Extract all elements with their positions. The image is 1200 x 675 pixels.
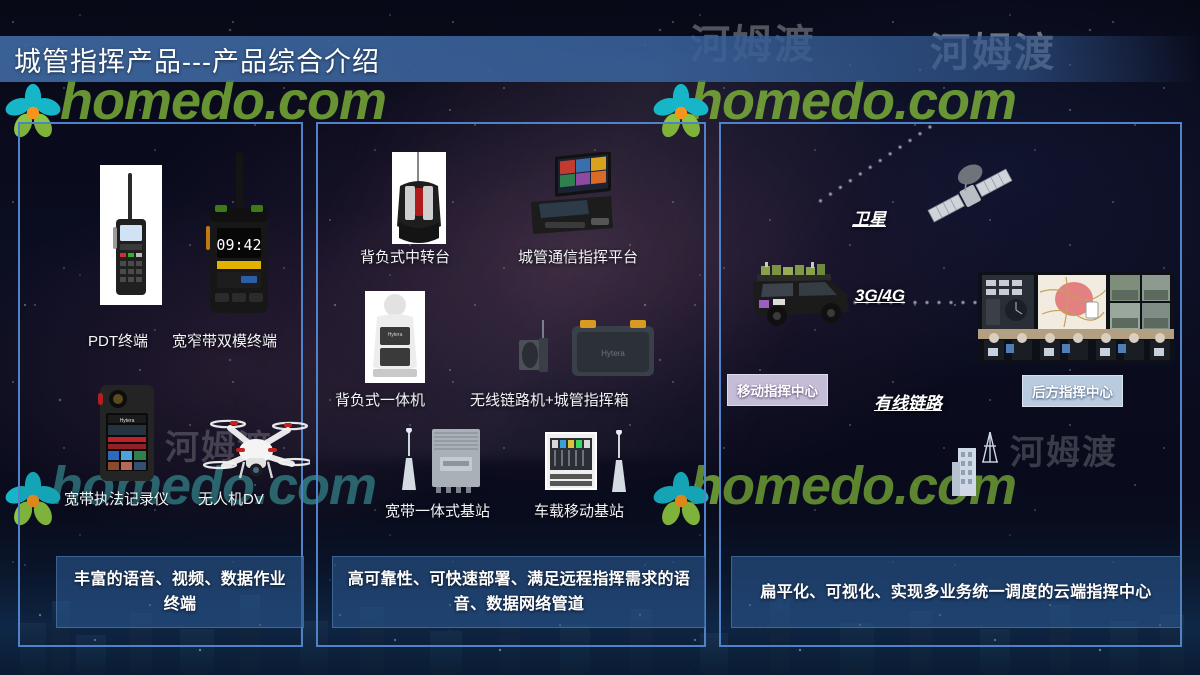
label-satellite-link: 卫星 <box>852 205 886 230</box>
terminal-summary: 丰富的语音、视频、数据作业终端 <box>56 556 304 628</box>
svg-text:09:42: 09:42 <box>216 236 261 254</box>
backpack-repeater <box>392 152 446 244</box>
label-cellular-link: 3G/4G <box>855 286 905 306</box>
pdt-handheld-radio <box>100 165 162 305</box>
backpack-all-in-one: Hytera <box>365 291 425 383</box>
caption-body-cam: 宽带执法记录仪 <box>64 488 169 509</box>
svg-text:Hytera: Hytera <box>388 332 403 338</box>
caption-command-platform: 城管通信指挥平台 <box>518 246 638 267</box>
caption-wireless-link-and-case: 无线链路机+城管指挥箱 <box>470 389 629 410</box>
caption-drone: 无人机DV <box>198 488 264 509</box>
rear-command-center-room <box>978 272 1174 364</box>
svg-text:Hytera: Hytera <box>120 418 135 424</box>
caption-backpack-repeater: 背负式中转台 <box>360 246 450 267</box>
command-platform-case <box>525 152 615 240</box>
svg-text:Hytera: Hytera <box>601 349 625 358</box>
satellite-icon <box>918 160 1018 232</box>
rear-command-center-chip: 后方指挥中心 <box>1022 375 1123 407</box>
mobile-command-vehicle <box>743 262 861 334</box>
caption-pdt-terminal: PDT终端 <box>88 330 148 351</box>
body-worn-camera: Hytera <box>96 383 158 483</box>
broadband-base-station-cabinet <box>430 427 482 493</box>
label-wired-link: 有线链路 <box>874 389 942 414</box>
wireless-link-device <box>513 320 553 378</box>
network-summary: 高可靠性、可快速部署、满足远程指挥需求的语音、数据网络管道 <box>332 556 706 628</box>
drone-dv <box>200 408 310 486</box>
vehicle-mobile-base-rack <box>545 432 597 490</box>
caption-backpack-all-in-one: 背负式一体机 <box>335 389 425 410</box>
caption-vehicle-mobile-base: 车载移动基站 <box>534 500 624 521</box>
mobile-command-center-chip: 移动指挥中心 <box>727 374 828 406</box>
page-title: 城管指挥产品---产品综合介绍 <box>14 40 380 79</box>
base-station-antenna-right <box>608 430 630 492</box>
base-station-antenna-left <box>398 428 420 490</box>
caption-broadband-base-station: 宽带一体式基站 <box>385 500 490 521</box>
caption-dual-mode-terminal: 宽窄带双模终端 <box>172 330 277 351</box>
building-with-antenna <box>950 418 1004 496</box>
dual-mode-radio: 09:42 <box>200 150 278 315</box>
command-box-case: Hytera <box>570 318 656 380</box>
command-summary: 扁平化、可视化、实现多业务统一调度的云端指挥中心 <box>731 556 1181 628</box>
